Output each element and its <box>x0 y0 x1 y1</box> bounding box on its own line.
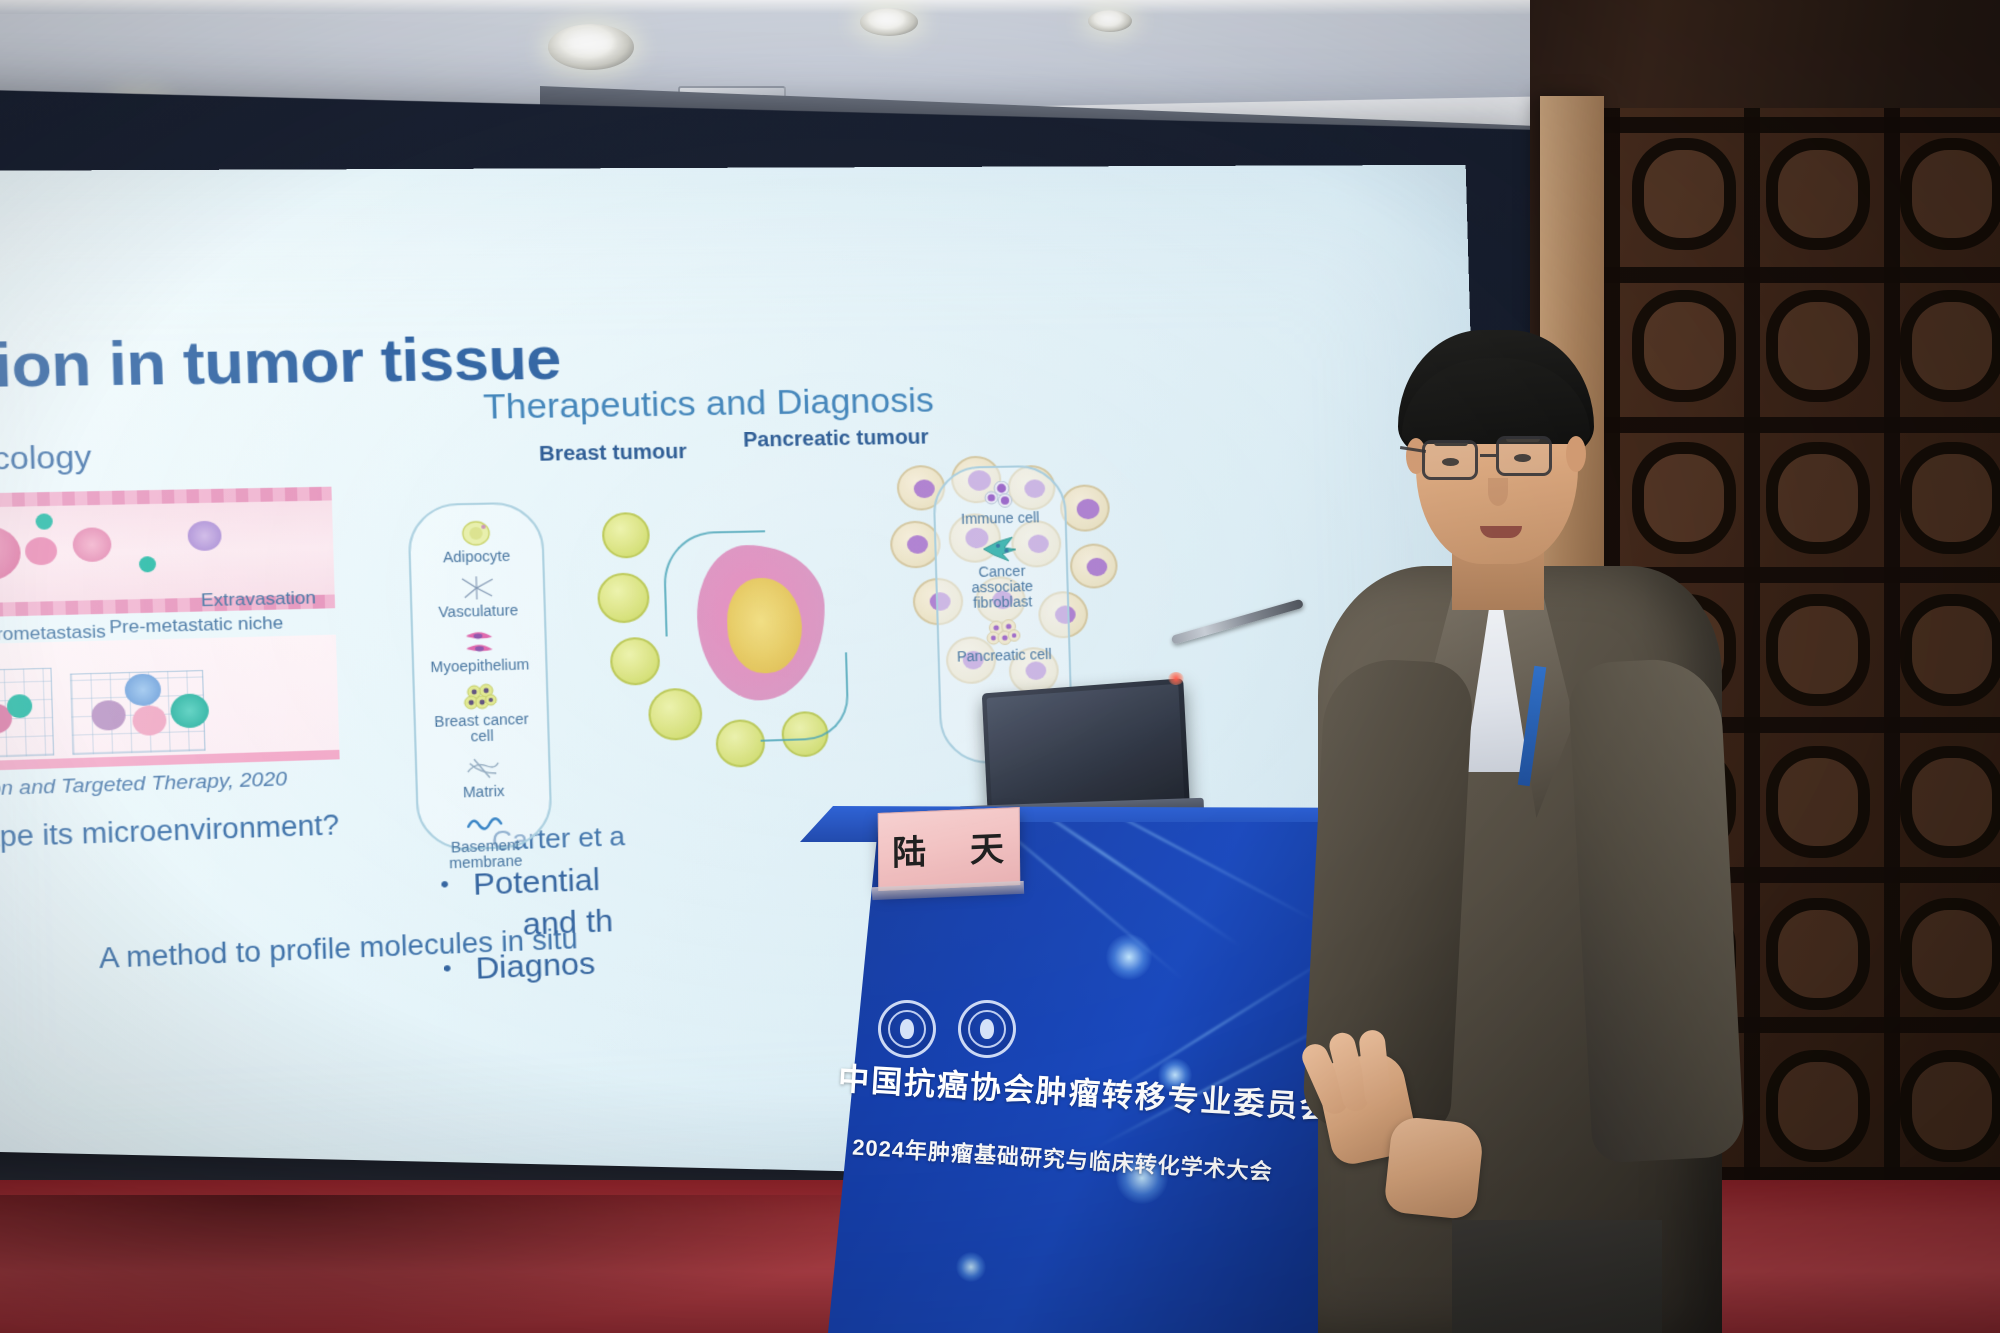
speaker-mouth <box>1480 526 1522 538</box>
lattice-cell <box>1766 138 1870 250</box>
pancreatic-cancer-cell-icon <box>986 617 1022 649</box>
association-seal-right-icon <box>958 1000 1016 1058</box>
adipocyte-lobe <box>597 572 650 623</box>
matrix-icon <box>465 752 501 785</box>
lattice-cell <box>1766 898 1870 1010</box>
vasculature-branch <box>662 530 768 636</box>
lattice-cell <box>1900 746 2000 858</box>
association-seal-left-icon <box>878 1000 936 1058</box>
speaker-name: 陆 天 <box>878 821 1020 876</box>
laser-pointer-beam-icon <box>1168 672 1184 685</box>
legend-item-immune-cell: Immune cell <box>960 479 1040 527</box>
adipocyte-lobe <box>602 512 651 559</box>
ceiling-downlight <box>860 8 918 36</box>
podium-light-beam <box>999 822 1318 922</box>
vasculature-icon <box>459 572 497 604</box>
adipocyte-lobe <box>610 637 661 686</box>
breast-cancer-cell-icon <box>463 681 499 713</box>
lattice-cell <box>1766 1050 1870 1162</box>
label-pancreatic-tumour: Pancreatic tumour <box>743 426 929 453</box>
ceiling-edge <box>0 0 1560 14</box>
adipocyte-lobe <box>648 688 703 742</box>
bullet-text: Diagnos <box>475 947 596 988</box>
immune-cell <box>35 513 53 529</box>
speaker-hand-right <box>1383 1115 1485 1220</box>
legend-label: Myoepithelium <box>430 657 529 676</box>
adipocyte-icon <box>459 517 493 549</box>
lattice-cell <box>1766 290 1870 402</box>
legend-label: Cancer associate fibroblast <box>945 563 1059 612</box>
legend-item-basement-membrane: Basement membrane <box>427 805 542 872</box>
tumor-cell <box>72 527 112 562</box>
lymphocyte <box>187 521 222 551</box>
vessel-wall-top <box>0 487 332 511</box>
legend-label: Vasculature <box>438 603 518 621</box>
tumor-cell <box>25 537 58 566</box>
floor-shadow <box>0 1195 900 1333</box>
podium-sparkle <box>956 1252 986 1282</box>
slide-title: organization in tumor tissue <box>0 323 562 406</box>
eyeglasses-lens-left <box>1422 440 1478 480</box>
lattice-cell <box>1632 138 1736 250</box>
label-pre-metastatic-niche: Pre-metastatic niche <box>109 613 284 639</box>
vasculature-branch <box>758 652 850 741</box>
section-heading-therapeutics: Therapeutics and Diagnosis <box>483 381 935 428</box>
lattice-cell <box>1900 594 2000 706</box>
lattice-cell <box>1900 442 2000 554</box>
slide-citation: , Signal Transduction and Targeted Thera… <box>0 768 287 807</box>
speaker-arm-right <box>1567 656 1745 1163</box>
legend-item-pancreatic-cancer-cell: Pancreatic cell <box>956 617 1052 666</box>
label-extravasation: Extravasation <box>201 588 317 612</box>
speaker-person <box>1330 330 1730 1333</box>
podium-logo-row <box>878 1000 1016 1058</box>
lattice-cell <box>1900 290 2000 402</box>
legend-label: Breast cancer cell <box>424 711 539 746</box>
slide-question-1: tumor cell shape its microenvironment? <box>0 809 340 861</box>
legend-item-caf: Cancer associate fibroblast <box>944 532 1058 612</box>
tumor-cell-cluster <box>0 525 21 582</box>
legend-item-myoepithelium: Myoepithelium <box>429 626 529 676</box>
legend-item-vasculature: Vasculature <box>437 571 518 620</box>
lattice-cell <box>1766 746 1870 858</box>
legend-panel-breast: Adipocyte Vasculature Myoepithelium Brea… <box>407 502 553 852</box>
legend-item-breast-cancer-cell: Breast cancer cell <box>423 680 539 747</box>
legend-item-matrix: Matrix <box>462 752 505 801</box>
podium-sparkle <box>1106 934 1152 980</box>
lattice-cell <box>1900 1050 2000 1162</box>
legend-label: Matrix <box>463 783 505 800</box>
immune-cell-icon <box>982 480 1018 511</box>
bullet-dot-icon: • <box>443 952 453 988</box>
eyeglasses-lens-right <box>1496 436 1552 476</box>
immune-cell <box>139 556 156 572</box>
speaker-trousers <box>1452 1220 1662 1333</box>
caf-icon <box>981 533 1021 565</box>
adipocyte-lobe <box>715 719 765 768</box>
eyeglasses-bridge <box>1480 454 1496 457</box>
bullet-dot-icon: • <box>440 868 450 904</box>
legend-label: Basement membrane <box>428 836 543 872</box>
tissue-diagram <box>0 635 340 776</box>
breast-tumour-illustration <box>594 476 896 795</box>
legend-label: Pancreatic cell <box>957 647 1052 665</box>
bullet-text: and th <box>522 904 613 943</box>
legend-label: Immune cell <box>961 510 1040 527</box>
speaker-ear-right <box>1566 436 1586 472</box>
label-breast-tumour: Breast tumour <box>539 440 687 467</box>
ceiling-downlight <box>548 24 634 70</box>
lattice-cell <box>1900 898 2000 1010</box>
legend-item-adipocyte: Adipocyte <box>442 517 511 566</box>
section-heading-oncology: Oncology <box>0 440 92 479</box>
ceiling-downlight <box>1088 10 1132 32</box>
speaker-nameplate: 陆 天 <box>878 807 1020 891</box>
lattice-cell <box>1900 138 2000 250</box>
speaker-nose <box>1488 478 1508 506</box>
laptop-screen[interactable] <box>982 678 1190 813</box>
presentation-photo: organization in tumor tissue Oncology Th… <box>0 0 2000 1333</box>
basement-membrane-icon <box>466 806 504 839</box>
myoepithelium-icon <box>461 627 497 659</box>
legend-label: Adipocyte <box>443 548 511 565</box>
lattice-cell <box>1766 442 1870 554</box>
lattice-cell <box>1766 594 1870 706</box>
slide-bullet-list: • Potential and th • Diagnos <box>440 852 905 995</box>
